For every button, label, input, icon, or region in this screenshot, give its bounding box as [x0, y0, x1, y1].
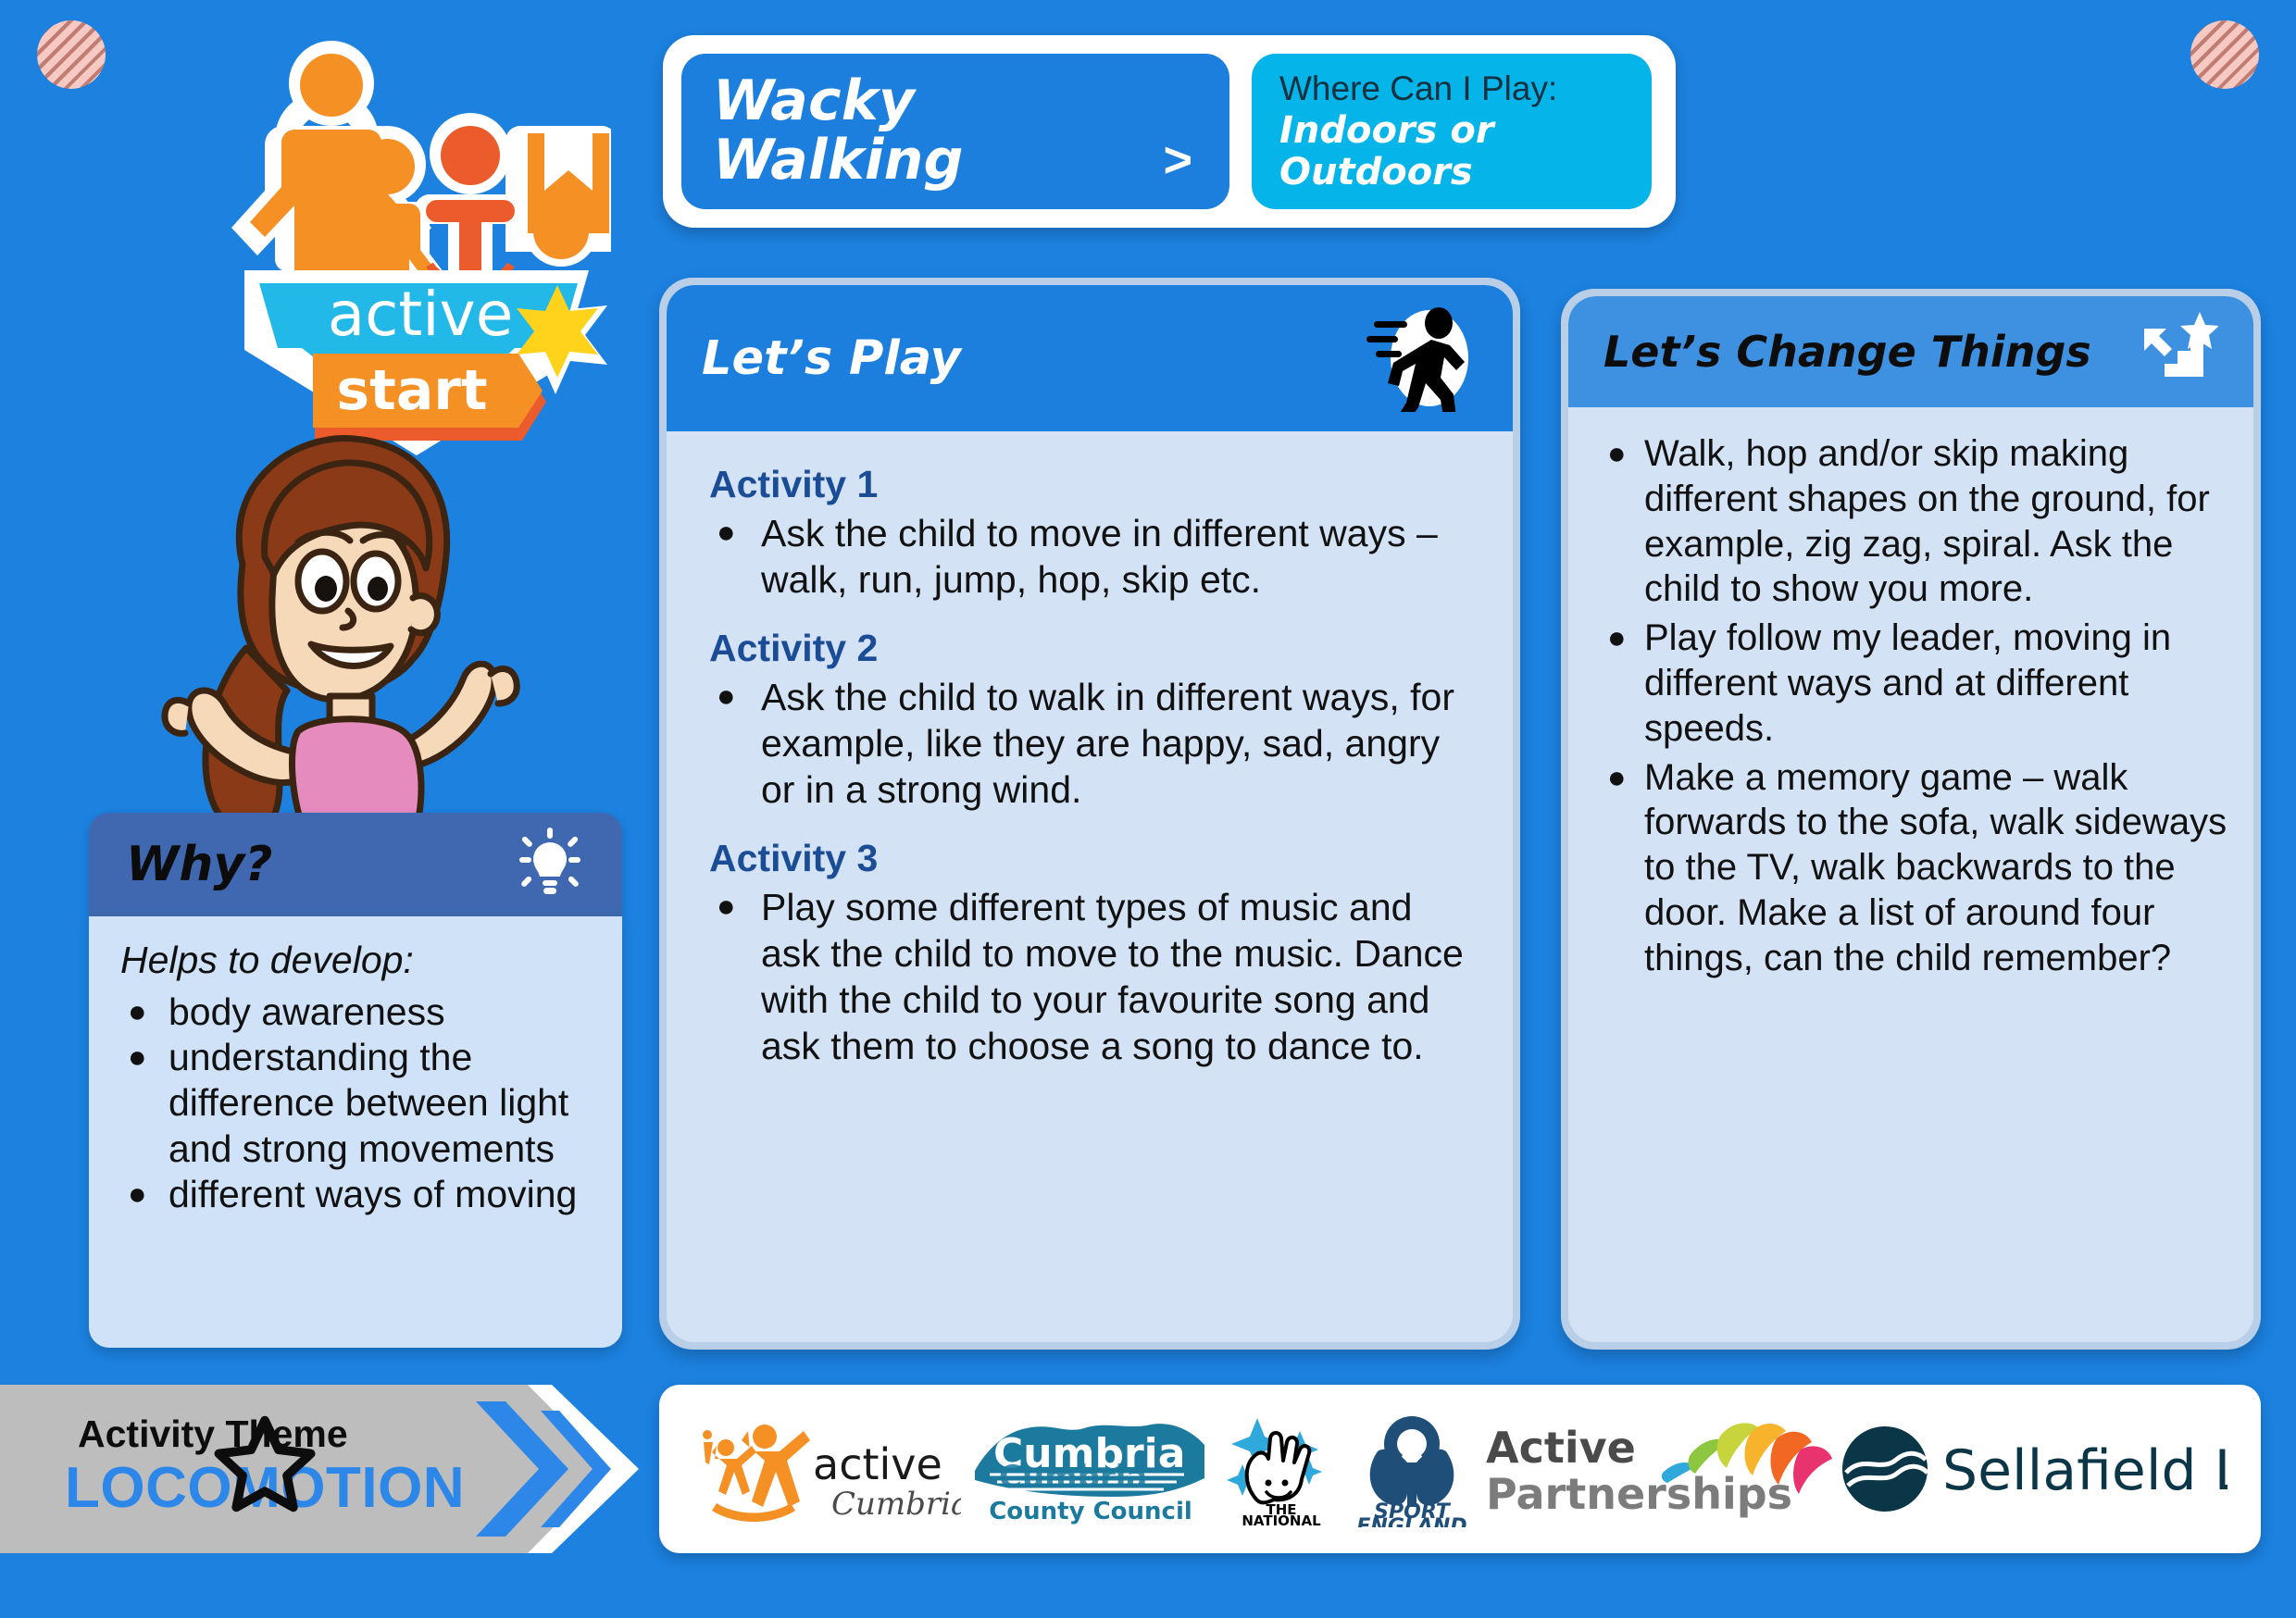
- footer-logo-bar: active Cumbria Cumbria Cumbria County Co…: [659, 1385, 2261, 1553]
- list-item: ● body awareness: [120, 989, 598, 1035]
- sellafield-wordmark: Sellafield Ltd: [1942, 1438, 2227, 1503]
- svg-text:NATIONAL: NATIONAL: [1242, 1512, 1321, 1527]
- why-header: Why?: [89, 813, 622, 916]
- lets-change-things-card: Let’s Change Things ● Walk, hop and/or s…: [1561, 289, 2261, 1350]
- stairs-star-arrow-icon: [2139, 310, 2218, 394]
- change-bullet-3: Make a memory game – walk forwards to th…: [1644, 755, 2229, 981]
- svg-text:ENGLAND: ENGLAND: [1357, 1515, 1467, 1527]
- sport-england-logo: SPORT ENGLAND: [1346, 1411, 1478, 1527]
- change-bullet-2: Play follow my leader, moving in differe…: [1644, 616, 2229, 751]
- bullet-icon: ●: [709, 884, 761, 929]
- decorative-striped-dot-top-left: [37, 20, 106, 89]
- active-partnerships-logo: Active Partnerships: [1482, 1418, 1834, 1520]
- svg-text:Active: Active: [1486, 1423, 1636, 1473]
- cumbria-county-council-logo: Cumbria Cumbria County Council: [966, 1413, 1216, 1525]
- decorative-striped-dot-top-right: [2190, 20, 2259, 89]
- header-bar: Wacky Walking > Where Can I Play: Indoor…: [663, 35, 1676, 228]
- activity-2-list: ● Ask the child to walk in different way…: [709, 674, 1476, 813]
- lets-change-things-body: ● Walk, hop and/or skip making different…: [1568, 407, 2253, 1003]
- activity-2-bullet-1: Ask the child to walk in different ways,…: [761, 674, 1476, 813]
- activity-title-line1: Wacky: [713, 72, 964, 131]
- bullet-icon: ●: [709, 674, 761, 719]
- lets-play-body: Activity 1 ● Ask the child to move in di…: [667, 431, 1513, 1088]
- lets-change-things-header: Let’s Change Things: [1568, 296, 2253, 407]
- activity-1-label: Activity 1: [709, 463, 1476, 506]
- activity-theme-label-row: Activity Theme: [65, 1413, 465, 1456]
- activity-title-box: Wacky Walking >: [681, 54, 1229, 209]
- walking-person-icon: [1366, 301, 1478, 417]
- active-cumbria-logo: active Cumbria: [693, 1414, 961, 1524]
- lets-change-things-list: ● Walk, hop and/or skip making different…: [1600, 431, 2229, 981]
- change-bullet-1: Walk, hop and/or skip making different s…: [1644, 431, 2229, 612]
- bullet-icon: ●: [1600, 616, 1644, 661]
- bullet-icon: ●: [1600, 755, 1644, 801]
- lets-play-header: Let’s Play: [667, 285, 1513, 431]
- activity-3-bullet-1: Play some different types of music and a…: [761, 884, 1476, 1069]
- svg-text:Partnerships: Partnerships: [1486, 1469, 1792, 1519]
- bullet-icon: ●: [709, 510, 761, 555]
- svg-text:Cumbria: Cumbria: [831, 1486, 961, 1523]
- svg-text:start: start: [336, 358, 487, 423]
- svg-text:County Council: County Council: [989, 1498, 1192, 1525]
- why-intro: Helps to develop:: [120, 939, 598, 982]
- svg-text:active: active: [813, 1439, 942, 1489]
- national-lottery-logo: THE NATIONAL: [1220, 1411, 1342, 1527]
- where-value-line2: Outdoors: [1279, 152, 1624, 193]
- why-bullet-3: different ways of moving: [168, 1172, 598, 1217]
- activity-1-list: ● Ask the child to move in different way…: [709, 510, 1476, 603]
- where-can-i-play-value: Indoors or Outdoors: [1279, 110, 1624, 193]
- list-item: ● Play follow my leader, moving in diffe…: [1600, 616, 2229, 751]
- why-body: Helps to develop: ● body awareness ● und…: [89, 916, 622, 1348]
- activity-theme-banner: Activity Theme LOCOMOTION: [0, 1385, 639, 1553]
- svg-text:active: active: [328, 279, 514, 350]
- list-item: ● Make a memory game – walk forwards to …: [1600, 755, 2229, 981]
- chevron-right-icon: >: [1163, 135, 1192, 185]
- activity-2-label: Activity 2: [709, 627, 1476, 670]
- list-item: ● different ways of moving: [120, 1172, 598, 1217]
- bullet-icon: ●: [120, 1172, 168, 1217]
- why-panel: Why? Helps to develop:: [89, 813, 622, 1348]
- where-can-i-play-badge: Where Can I Play: Indoors or Outdoors: [1252, 54, 1652, 209]
- lets-play-card: Let’s Play Activity 1 ●: [659, 278, 1520, 1350]
- sellafield-ltd-logo: Sellafield Ltd: [1839, 1421, 2227, 1517]
- activity-3-label: Activity 3: [709, 837, 1476, 880]
- active-start-logo: active start: [222, 37, 611, 472]
- where-can-i-play-label: Where Can I Play:: [1279, 69, 1624, 107]
- why-list: ● body awareness ● understanding the dif…: [120, 989, 598, 1217]
- lets-change-things-heading: Let’s Change Things: [1603, 330, 2091, 373]
- why-heading: Why?: [126, 837, 272, 892]
- bullet-icon: ●: [120, 989, 168, 1035]
- bullet-icon: ●: [1600, 431, 1644, 477]
- list-item: ● Ask the child to move in different way…: [709, 510, 1476, 603]
- list-item: ● Play some different types of music and…: [709, 884, 1476, 1069]
- lightbulb-icon: [515, 828, 585, 902]
- activity-title-line2: Walking: [713, 131, 964, 191]
- svg-text:Cumbria: Cumbria: [999, 1459, 1147, 1496]
- list-item: ● Ask the child to walk in different way…: [709, 674, 1476, 813]
- activity-1-bullet-1: Ask the child to move in different ways …: [761, 510, 1476, 603]
- why-bullet-1: body awareness: [168, 989, 598, 1035]
- bullet-icon: ●: [120, 1035, 168, 1080]
- list-item: ● understanding the difference between l…: [120, 1035, 598, 1172]
- activity-title: Wacky Walking: [713, 72, 964, 190]
- activity-3-list: ● Play some different types of music and…: [709, 884, 1476, 1069]
- lets-play-heading: Let’s Play: [702, 335, 961, 382]
- where-value-line1: Indoors or: [1279, 110, 1624, 152]
- list-item: ● Walk, hop and/or skip making different…: [1600, 431, 2229, 612]
- why-bullet-2: understanding the difference between lig…: [168, 1035, 598, 1172]
